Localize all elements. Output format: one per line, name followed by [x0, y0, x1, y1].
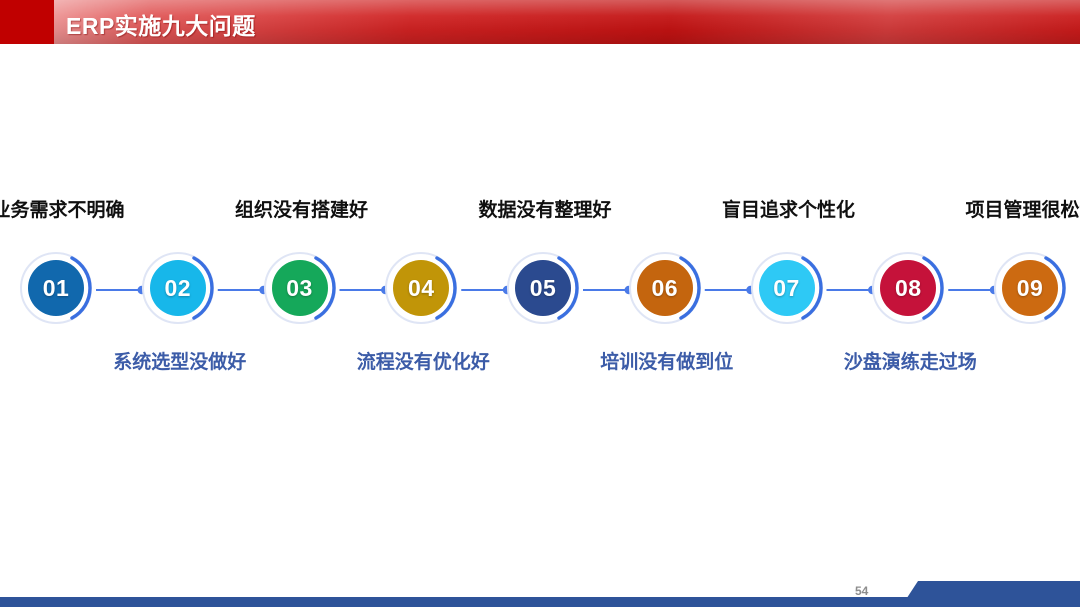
timeline-node-08[interactable]: 08	[872, 252, 948, 328]
footer-wedge-shape	[878, 581, 1080, 607]
timeline-label-01: 业务需求不明确	[0, 198, 125, 224]
node-number: 08	[895, 277, 922, 300]
node-number: 04	[408, 277, 435, 300]
node-disc: 03	[272, 260, 328, 316]
node-number: 07	[773, 277, 800, 300]
timeline-label-06: 培训没有做到位	[600, 350, 733, 376]
timeline-node-03[interactable]: 03	[264, 252, 340, 328]
timeline-label-03: 组织没有搭建好	[235, 198, 368, 224]
nine-problems-timeline: 业务需求不明确组织没有搭建好数据没有整理好盲目追求个性化项目管理很松散 系统选型…	[0, 190, 1080, 390]
timeline-label-05: 数据没有整理好	[478, 198, 611, 224]
node-disc: 07	[759, 260, 815, 316]
node-disc: 08	[880, 260, 936, 316]
timeline-bottom-labels: 系统选型没做好流程没有优化好培训没有做到位沙盘演练走过场	[0, 350, 1080, 380]
node-disc: 05	[515, 260, 571, 316]
timeline-node-05[interactable]: 05	[507, 252, 583, 328]
timeline-node-04[interactable]: 04	[385, 252, 461, 328]
timeline-label-02: 系统选型没做好	[113, 350, 246, 376]
slide-title-banner: ERP实施九大问题	[0, 0, 1080, 44]
node-number: 03	[286, 277, 313, 300]
node-number: 09	[1017, 277, 1044, 300]
timeline-label-08: 沙盘演练走过场	[844, 350, 977, 376]
page-number: 54	[855, 584, 868, 598]
page-title: ERP实施九大问题	[66, 7, 256, 41]
node-disc: 02	[150, 260, 206, 316]
timeline-label-04: 流程没有优化好	[357, 350, 490, 376]
node-number: 05	[530, 277, 557, 300]
timeline-node-06[interactable]: 06	[629, 252, 705, 328]
node-disc: 04	[393, 260, 449, 316]
timeline-node-09[interactable]: 09	[994, 252, 1070, 328]
node-number: 06	[651, 277, 678, 300]
timeline-node-02[interactable]: 02	[142, 252, 218, 328]
node-disc: 01	[28, 260, 84, 316]
title-accent-block	[0, 0, 54, 44]
timeline-node-07[interactable]: 07	[751, 252, 827, 328]
node-number: 02	[164, 277, 191, 300]
timeline-label-09: 项目管理很松散	[965, 198, 1080, 224]
node-number: 01	[43, 277, 70, 300]
timeline-node-01[interactable]: 01	[20, 252, 96, 328]
timeline-label-07: 盲目追求个性化	[722, 198, 855, 224]
node-disc: 09	[1002, 260, 1058, 316]
timeline-top-labels: 业务需求不明确组织没有搭建好数据没有整理好盲目追求个性化项目管理很松散	[0, 198, 1080, 228]
node-disc: 06	[637, 260, 693, 316]
